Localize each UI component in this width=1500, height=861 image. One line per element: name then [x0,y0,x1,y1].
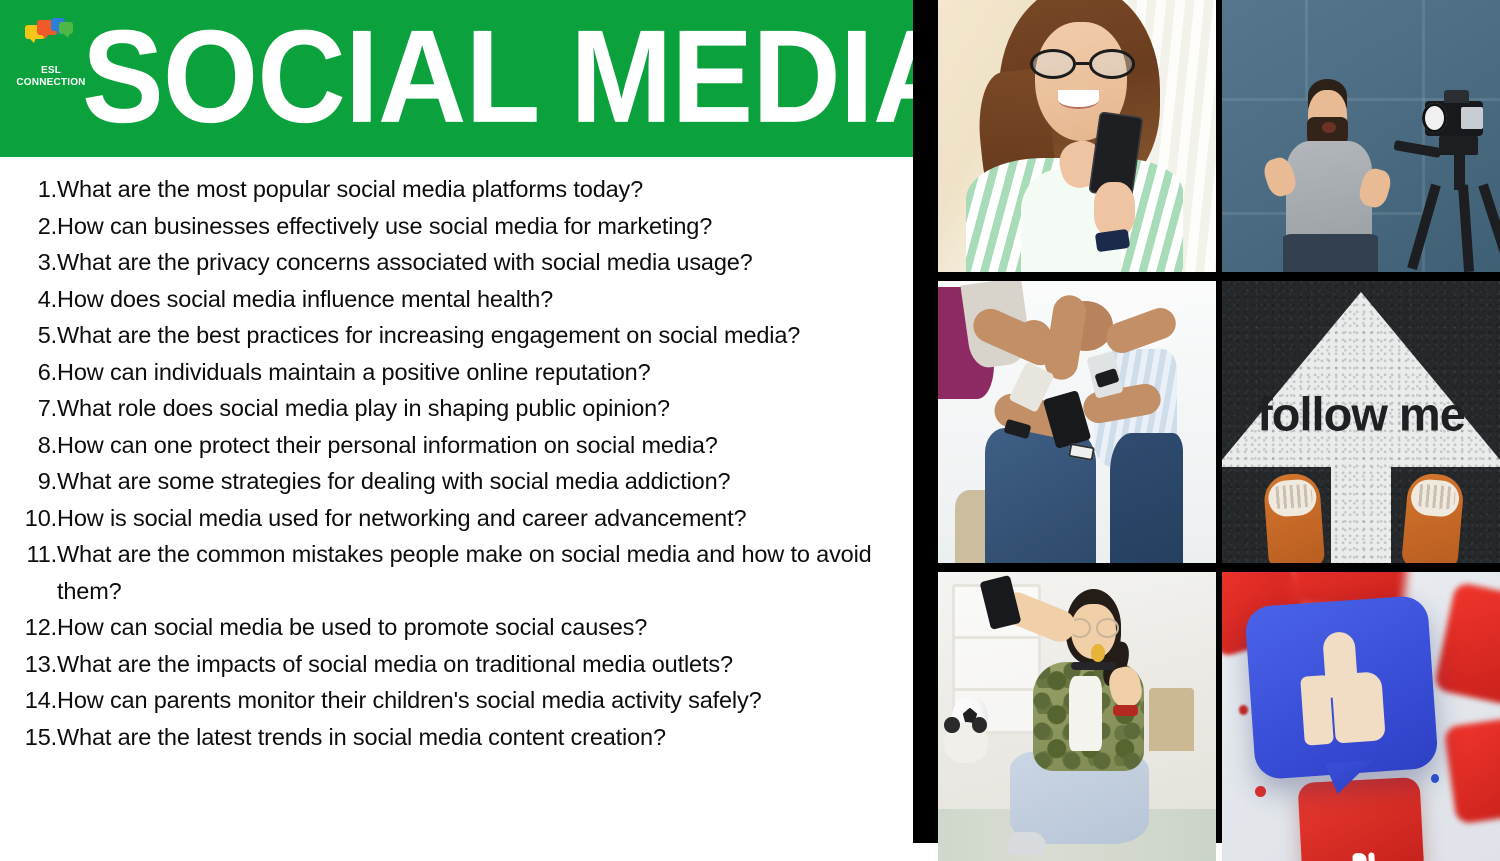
thumbs-up-icon [1244,595,1439,781]
list-item-number: 10. [0,500,57,537]
photo-follow-me-arrow: follow me [1222,281,1500,563]
list-item: 7. What role does social media play in s… [0,390,913,427]
speech-bubble-green-icon [59,22,73,34]
list-item-text: What are the privacy concerns associated… [57,244,913,281]
list-item: 13. What are the impacts of social media… [0,646,913,683]
esl-connection-logo: ESL CONNECTION [15,18,87,88]
list-item-number: 1. [0,171,57,208]
list-item-text: What are the common mistakes people make… [57,536,913,609]
green-header-bar: ESL CONNECTION SOCIAL MEDIA [0,0,913,157]
list-item: 14. How can parents monitor their childr… [0,682,913,719]
thumbs-down-icon [1297,777,1424,861]
list-item-text: What role does social media play in shap… [57,390,913,427]
photo-grid: follow me [938,0,1500,843]
list-item-number: 7. [0,390,57,427]
photo-panel: follow me [913,0,1500,843]
list-item-number: 15. [0,719,57,756]
list-item: 9. What are some strategies for dealing … [0,463,913,500]
logo-text: ESL CONNECTION [16,65,85,88]
list-item-number: 5. [0,317,57,354]
list-item-number: 8. [0,427,57,464]
photo-woman-selfie [938,572,1216,861]
list-item-text: How does social media influence mental h… [57,281,913,318]
list-item: 4. How does social media influence menta… [0,281,913,318]
list-item-text: What are the latest trends in social med… [57,719,913,756]
list-item-text: How can businesses effectively use socia… [57,208,913,245]
list-item: 6. How can individuals maintain a positi… [0,354,913,391]
social-media-worksheet-poster: ESL CONNECTION SOCIAL MEDIA 1. What are … [0,0,1500,843]
list-item-text: How can individuals maintain a positive … [57,354,913,391]
photo-vlogger-with-camera [1222,0,1500,272]
list-item-text: What are the impacts of social media on … [57,646,913,683]
left-content-panel: ESL CONNECTION SOCIAL MEDIA 1. What are … [0,0,913,843]
sneaker-left [1263,472,1325,563]
list-item: 10. How is social media used for network… [0,500,913,537]
speech-bubbles-icon [25,18,77,42]
list-item-text: What are the most popular social media p… [57,171,913,208]
list-item-number: 13. [0,646,57,683]
list-item: 3. What are the privacy concerns associa… [0,244,913,281]
list-item-number: 2. [0,208,57,245]
list-item-text: How can parents monitor their children's… [57,682,913,719]
people-group-icon [31,45,71,61]
list-item-text: What are some strategies for dealing wit… [57,463,913,500]
logo-text-line2: CONNECTION [16,77,85,89]
list-item-number: 9. [0,463,57,500]
list-item-number: 6. [0,354,57,391]
list-item-text: What are the best practices for increasi… [57,317,913,354]
follow-me-text: follow me [1257,386,1465,441]
list-item-text: How can social media be used to promote … [57,609,913,646]
photo-like-dislike-icons [1222,572,1500,861]
photo-woman-with-phone [938,0,1216,272]
list-item-text: How can one protect their personal infor… [57,427,913,464]
photo-friends-with-phones [938,281,1216,563]
sneaker-right [1401,471,1465,563]
list-item-text: How is social media used for networking … [57,500,913,537]
list-item: 15. What are the latest trends in social… [0,719,913,756]
list-item: 5. What are the best practices for incre… [0,317,913,354]
logo-text-line1: ESL [16,65,85,77]
list-item-number: 12. [0,609,57,646]
list-item-number: 11. [0,536,57,573]
list-item: 8. How can one protect their personal in… [0,427,913,464]
question-list: 1. What are the most popular social medi… [0,157,913,755]
list-item-number: 4. [0,281,57,318]
list-item: 2. How can businesses effectively use so… [0,208,913,245]
list-item-number: 3. [0,244,57,281]
list-item: 12. How can social media be used to prom… [0,609,913,646]
page-title: SOCIAL MEDIA [82,0,913,157]
list-item: 1. What are the most popular social medi… [0,171,913,208]
list-item: 11. What are the common mistakes people … [0,536,913,609]
list-item-number: 14. [0,682,57,719]
